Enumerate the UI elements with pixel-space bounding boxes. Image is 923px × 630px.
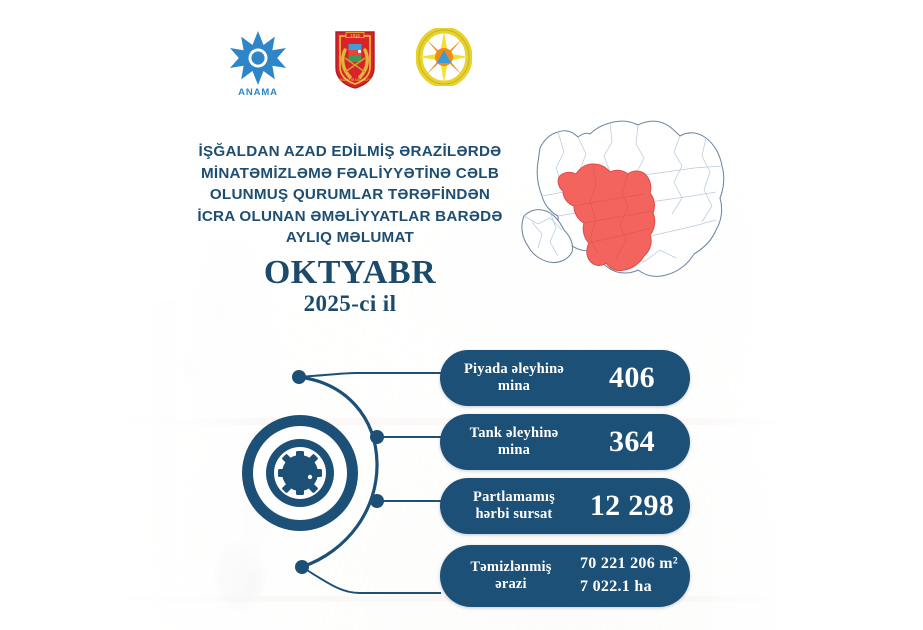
title-line-5: AYLIQ MƏLUMAT (140, 227, 560, 249)
stat-value: 364 (574, 424, 690, 459)
anama-wordmark: ANAMA (238, 87, 278, 98)
report-month: OKTYABR (140, 254, 560, 292)
azerbaijan-map (516, 112, 731, 287)
ministry-of-defense-emblem: 1918 MÜDAFİƏ NAZİRLİYİ (333, 28, 377, 90)
ministry-of-emergency-situations-emblem (416, 28, 472, 86)
logo-row: ANAMA 1918 MÜDAFİƏ NAZ (222, 28, 472, 104)
connector-node-2 (370, 430, 384, 444)
stat-value: 70 221 206 m² 7 022.1 ha (570, 553, 690, 598)
title-line-3: OLUNMUŞ QURUMLAR TƏRƏFİNDƏN (140, 184, 560, 206)
stat-value: 406 (574, 360, 690, 395)
connector-node-4 (295, 560, 309, 574)
report-year: 2025-ci il (140, 291, 560, 317)
title-line-1: İŞĞALDAN AZAD EDİLMİŞ ƏRAZİLƏRDƏ (140, 141, 560, 163)
stat-value-ha: 7 022.1 ha (580, 576, 690, 599)
anama-star-icon (227, 28, 289, 86)
stat-card-cleared-area: Təmizlənmiş ərazi 70 221 206 m² 7 022.1 … (440, 545, 690, 607)
page-title: İŞĞALDAN AZAD EDİLMİŞ ƏRAZİLƏRDƏ MİNATƏM… (140, 141, 560, 249)
infographic-canvas: ANAMA 1918 MÜDAFİƏ NAZ (0, 0, 923, 630)
connector-node-3 (370, 494, 384, 508)
svg-text:MÜDAFİƏ NAZİRLİYİ: MÜDAFİƏ NAZİRLİYİ (339, 77, 372, 82)
connector-node-1 (292, 370, 306, 384)
stat-label: Piyada əleyhinə mina (454, 361, 574, 395)
title-line-2: MİNATƏMİZLƏMƏ FƏALİYYƏTİNƏ CƏLB (140, 163, 560, 185)
stat-card-antitank-mines: Tank əleyhinə mina 364 (440, 414, 690, 470)
stat-value: 12 298 (574, 488, 690, 523)
anama-logo: ANAMA (222, 28, 294, 102)
stat-card-unexploded-ordnance: Partlamamış hərbi sursat 12 298 (440, 478, 690, 534)
mes-star-icon (416, 28, 472, 86)
stat-label: Tank əleyhinə mina (454, 425, 574, 459)
defense-shield-icon: 1918 MÜDAFİƏ NAZİRLİYİ (333, 28, 377, 90)
title-line-4: İCRA OLUNAN ƏMƏLİYYATLAR BARƏDƏ (140, 206, 560, 228)
svg-text:1918: 1918 (350, 33, 360, 38)
stat-label: Partlamamış hərbi sursat (454, 489, 574, 523)
stat-card-antipersonnel-mines: Piyada əleyhinə mina 406 (440, 350, 690, 406)
stat-value-sqm: 70 221 206 m² (580, 553, 690, 576)
stat-label: Təmizlənmiş ərazi (452, 559, 570, 593)
